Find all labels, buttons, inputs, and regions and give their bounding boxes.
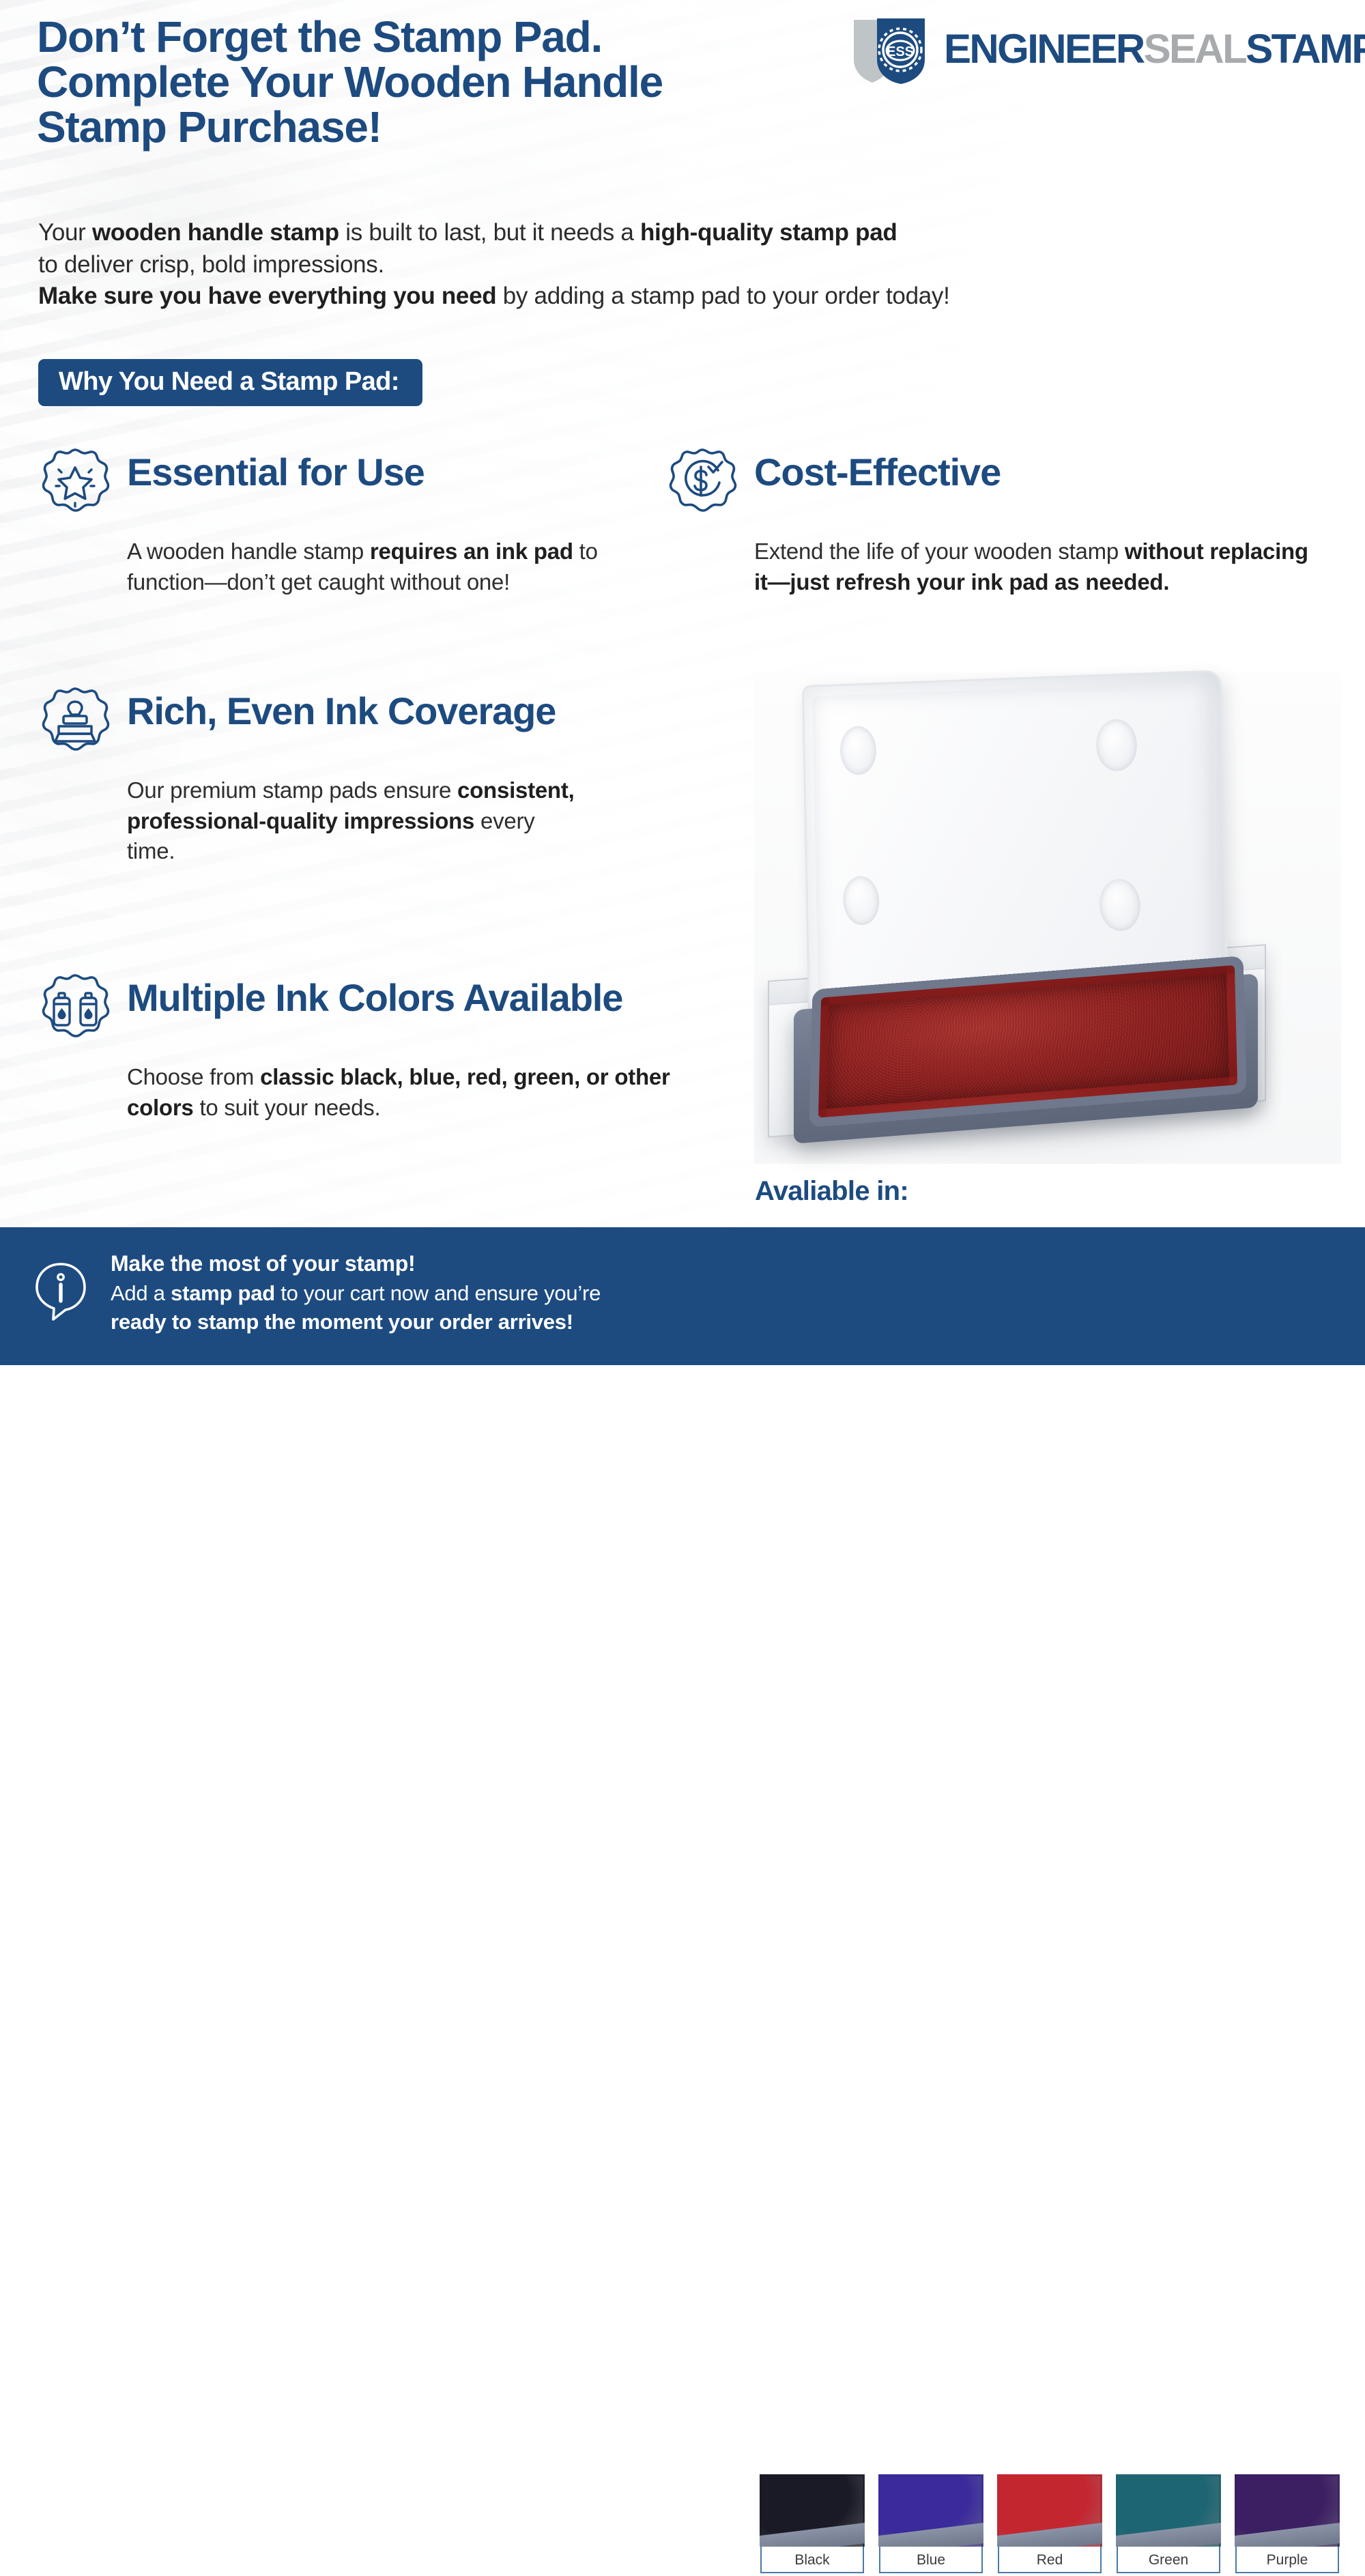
feature-body: A wooden handle stamp requires an ink pa…: [127, 536, 605, 597]
headline-line-3: Stamp Purchase!: [37, 105, 876, 150]
info-speech-bubble-icon: [31, 1260, 90, 1323]
feature-body-text: Choose from: [127, 1064, 260, 1089]
star-badge-icon: [38, 446, 112, 521]
available-in-heading: Avaliable in:: [755, 1176, 908, 1207]
intro-emphasis-make-sure: Make sure you have everything you need: [38, 283, 496, 309]
feature-title: Multiple Ink Colors Available: [127, 969, 622, 1018]
dollar-check-badge-icon: [665, 446, 739, 521]
ink-color-swatch[interactable]: Purple: [1233, 2472, 1342, 2576]
ink-color-swatch[interactable]: Black: [758, 2472, 867, 2576]
swatch-ink-surface: [997, 2474, 1102, 2547]
brand-word-stamps: STAMPS: [1246, 29, 1365, 70]
headline-line-1: Don’t Forget the Stamp Pad.: [37, 15, 876, 60]
brand-word-seal: SEAL: [1144, 29, 1246, 70]
intro-text: is built to last, but it needs a: [339, 219, 640, 246]
intro-line-2: to deliver crisp, bold impressions.: [38, 249, 1260, 281]
footer-cta-bar: Make the most of your stamp! Add a stamp…: [0, 1227, 1365, 1365]
lid-dimple: [1099, 878, 1140, 931]
headline-line-2: Complete Your Wooden Handle: [37, 60, 876, 105]
swatch-label: Black: [760, 2547, 865, 2574]
footer-cta-block: Make the most of your stamp! Add a stamp…: [31, 1249, 601, 1337]
infographic-page: Don’t Forget the Stamp Pad. Complete You…: [0, 0, 1365, 1365]
feature-body-text: Our premium stamp pads ensure: [127, 777, 457, 803]
feature-header: Rich, Even Ink Coverage: [38, 683, 598, 760]
rubber-stamp-badge-icon: [38, 685, 112, 760]
page-headline: Don’t Forget the Stamp Pad. Complete You…: [37, 15, 876, 150]
footer-line-3: ready to stamp the moment your order arr…: [111, 1308, 601, 1336]
lid-dimple: [1095, 719, 1137, 771]
feature-header: Multiple Ink Colors Available: [38, 969, 721, 1047]
swatch-label: Blue: [878, 2547, 983, 2574]
feature-title: Cost-Effective: [754, 444, 1001, 492]
swatch-label: Purple: [1235, 2547, 1340, 2574]
swatch-ink-surface: [1116, 2474, 1221, 2547]
feature-rich-even-ink-coverage: Rich, Even Ink Coverage Our premium stam…: [38, 683, 598, 867]
ink-color-swatch[interactable]: Green: [1114, 2472, 1223, 2576]
footer-emphasis-stamp-pad: stamp pad: [171, 1281, 275, 1305]
swatch-label: Green: [1116, 2547, 1221, 2574]
stamp-pad-product-photo: Stamp pad for rubber stamps Almohadilla …: [754, 672, 1341, 1164]
intro-line-1: Your wooden handle stamp is built to las…: [38, 217, 1260, 249]
feature-body-text: A wooden handle stamp: [127, 539, 370, 564]
feature-title: Rich, Even Ink Coverage: [127, 683, 556, 731]
swatch-ink-surface: [878, 2474, 983, 2547]
ink-color-swatch[interactable]: Blue: [876, 2472, 986, 2576]
intro-text: by adding a stamp pad to your order toda…: [496, 283, 949, 309]
swatch-label: Red: [997, 2547, 1102, 2574]
brand-logo[interactable]: ESS ENGINEER SEAL STAMPS .COM: [850, 15, 1336, 85]
feature-header: Essential for Use: [38, 444, 598, 521]
footer-text: to your cart now and ensure you’re: [275, 1281, 601, 1305]
ink-bottles-badge-icon: [38, 972, 112, 1047]
swatch-ink-surface: [1235, 2474, 1340, 2547]
lid-dimple: [843, 876, 880, 925]
feature-body-emphasis: requires an ink pad: [370, 539, 573, 564]
feature-essential-for-use: Essential for Use A wooden handle stamp …: [38, 444, 598, 597]
brand-word-engineer: ENGINEER: [944, 29, 1144, 70]
feature-body-text: to suit your needs.: [194, 1095, 381, 1120]
intro-emphasis-high-quality-stamp-pad: high-quality stamp pad: [640, 219, 897, 246]
section-ribbon-why-you-need: Why You Need a Stamp Pad:: [38, 359, 422, 406]
feature-cost-effective: Cost-Effective Extend the life of your w…: [665, 444, 1341, 597]
footer-text: Add a: [111, 1281, 171, 1305]
intro-emphasis-wooden-handle-stamp: wooden handle stamp: [92, 219, 339, 246]
swatch-ink-surface: [760, 2474, 865, 2547]
ink-color-swatch[interactable]: Red: [995, 2472, 1104, 2576]
intro-paragraph: Your wooden handle stamp is built to las…: [38, 217, 1260, 313]
brand-wordmark: ENGINEER SEAL STAMPS .COM: [944, 29, 1365, 71]
footer-line-1: Make the most of your stamp!: [111, 1249, 601, 1279]
svg-text:ESS: ESS: [887, 44, 914, 59]
ink-color-swatch-row: BlackBlueRedGreenPurple: [758, 2472, 1342, 2576]
intro-line-3: Make sure you have everything you need b…: [38, 281, 1260, 313]
feature-body: Our premium stamp pads ensure consistent…: [127, 775, 577, 867]
intro-text: Your: [38, 219, 92, 246]
feature-multiple-ink-colors: Multiple Ink Colors Available Choose fro…: [38, 969, 721, 1123]
feature-body: Choose from classic black, blue, red, gr…: [127, 1062, 693, 1123]
lid-dimple: [839, 726, 876, 775]
footer-cta-text: Make the most of your stamp! Add a stamp…: [111, 1249, 601, 1337]
feature-body: Extend the life of your wooden stamp wit…: [754, 536, 1321, 597]
feature-title: Essential for Use: [127, 444, 425, 492]
footer-line-2: Add a stamp pad to your cart now and ens…: [111, 1279, 601, 1308]
feature-header: Cost-Effective: [665, 444, 1341, 521]
ess-gear-shield-icon: ESS: [850, 16, 937, 84]
feature-body-text: Extend the life of your wooden stamp: [754, 539, 1125, 564]
